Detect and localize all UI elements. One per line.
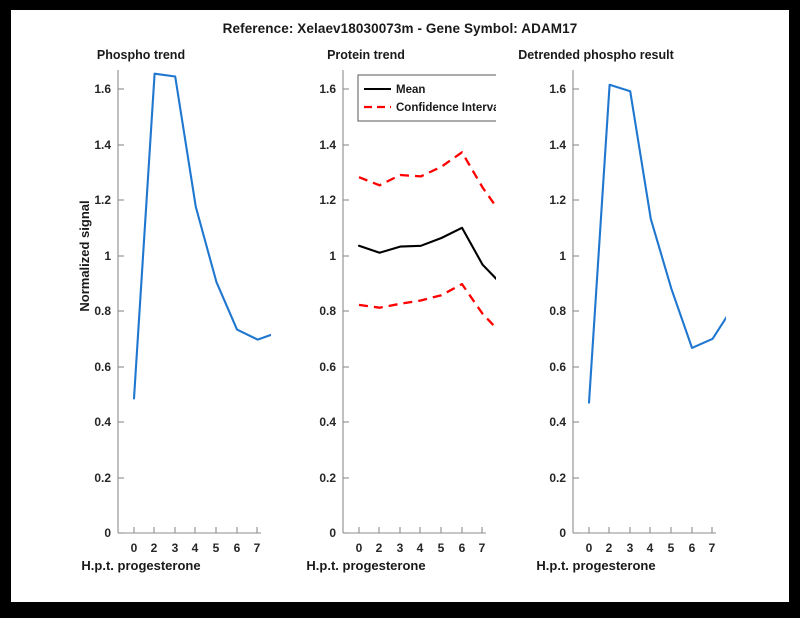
subplot-phospho-trend: Phospho trend Normalized signal H.p.t. p…: [11, 10, 271, 602]
xtick-label-2: 3: [627, 541, 634, 555]
subplot-detrended-phospho-result: Detrended phospho result H.p.t. progeste…: [466, 10, 726, 602]
ytick-label-5: 1: [104, 249, 111, 263]
ytick-label-3: 0.6: [319, 360, 336, 374]
xtick-label-0: 0: [356, 541, 363, 555]
detrended-phospho-line: [589, 85, 726, 403]
xtick-label-3: 4: [647, 541, 654, 555]
ytick-label-8: 1.6: [319, 82, 336, 96]
plot-area-protein: 0 0.2 0.4 0.6 0.8 1 1.2 1.4 1.6: [236, 10, 496, 602]
ytick-label-8: 1.6: [549, 82, 566, 96]
xtick-label-3: 4: [192, 541, 199, 555]
figure-window: Reference: Xelaev18030073m - Gene Symbol…: [0, 0, 800, 618]
ytick-label-7: 1.4: [319, 138, 336, 152]
ytick-label-1: 0.2: [319, 471, 336, 485]
ytick-label-3: 0.6: [549, 360, 566, 374]
ytick-label-7: 1.4: [94, 138, 111, 152]
xtick-label-1: 2: [376, 541, 383, 555]
plot-area-phospho: 0 0.2 0.4 0.6 0.8 1 1.2 1.4 1.6: [11, 10, 271, 602]
ytick-label-8: 1.6: [94, 82, 111, 96]
xtick-label-5: 6: [689, 541, 696, 555]
xtick-label-2: 3: [172, 541, 179, 555]
ytick-label-7: 1.4: [549, 138, 566, 152]
xtick-label-0: 0: [131, 541, 138, 555]
ytick-label-5: 1: [559, 249, 566, 263]
ytick-label-3: 0.6: [94, 360, 111, 374]
xtick-label-6: 7: [709, 541, 716, 555]
ytick-label-1: 0.2: [94, 471, 111, 485]
plot-area-detrended: 0 0.2 0.4 0.6 0.8 1 1.2 1.4 1.6: [466, 10, 726, 602]
xtick-label-4: 5: [668, 541, 675, 555]
x-ticks-detrended: [589, 527, 726, 533]
legend-label-mean: Mean: [396, 84, 425, 96]
xtick-label-0: 0: [586, 541, 593, 555]
xtick-label-1: 2: [606, 541, 613, 555]
ytick-label-2: 0.4: [319, 415, 336, 429]
ytick-label-1: 0.2: [549, 471, 566, 485]
ytick-label-6: 1.2: [94, 193, 111, 207]
xtick-label-4: 5: [438, 541, 445, 555]
ytick-label-2: 0.4: [94, 415, 111, 429]
figure-canvas: Reference: Xelaev18030073m - Gene Symbol…: [11, 10, 789, 602]
xtick-label-2: 3: [397, 541, 404, 555]
ytick-label-4: 0.8: [319, 304, 336, 318]
ytick-label-5: 1: [329, 249, 336, 263]
y-ticks-phospho: [118, 89, 124, 533]
ytick-label-0: 0: [104, 526, 111, 540]
subplot-protein-trend: Protein trend H.p.t. progesterone 0: [236, 10, 496, 602]
ytick-label-6: 1.2: [319, 193, 336, 207]
xtick-label-4: 5: [213, 541, 220, 555]
xtick-label-1: 2: [151, 541, 158, 555]
ytick-label-0: 0: [329, 526, 336, 540]
ytick-label-0: 0: [559, 526, 566, 540]
ytick-label-4: 0.8: [549, 304, 566, 318]
xtick-label-5: 6: [459, 541, 466, 555]
ytick-label-2: 0.4: [549, 415, 566, 429]
ytick-label-6: 1.2: [549, 193, 566, 207]
ytick-label-4: 0.8: [94, 304, 111, 318]
y-ticks-protein: [343, 89, 349, 533]
y-ticks-detrended: [573, 89, 579, 533]
xtick-label-3: 4: [417, 541, 424, 555]
